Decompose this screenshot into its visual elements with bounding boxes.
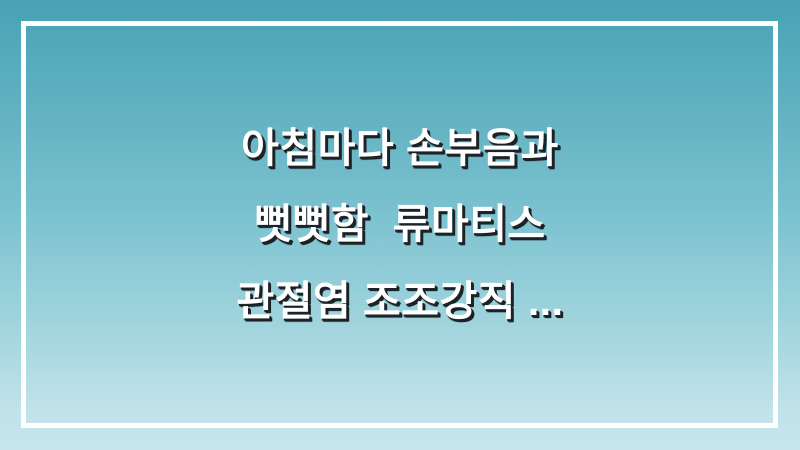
headline-line-1: 아침마다 손부음과 bbox=[241, 127, 559, 170]
headline-line-3: 관절염 조조강직 ... bbox=[237, 280, 564, 323]
headline-text-block: 아침마다 손부음과 뻣뻣함 류마티스 관절염 조조강직 ... bbox=[0, 0, 800, 450]
thumbnail-card: 아침마다 손부음과 뻣뻣함 류마티스 관절염 조조강직 ... bbox=[0, 0, 800, 450]
headline-line-2: 뻣뻣함 류마티스 bbox=[254, 203, 545, 246]
